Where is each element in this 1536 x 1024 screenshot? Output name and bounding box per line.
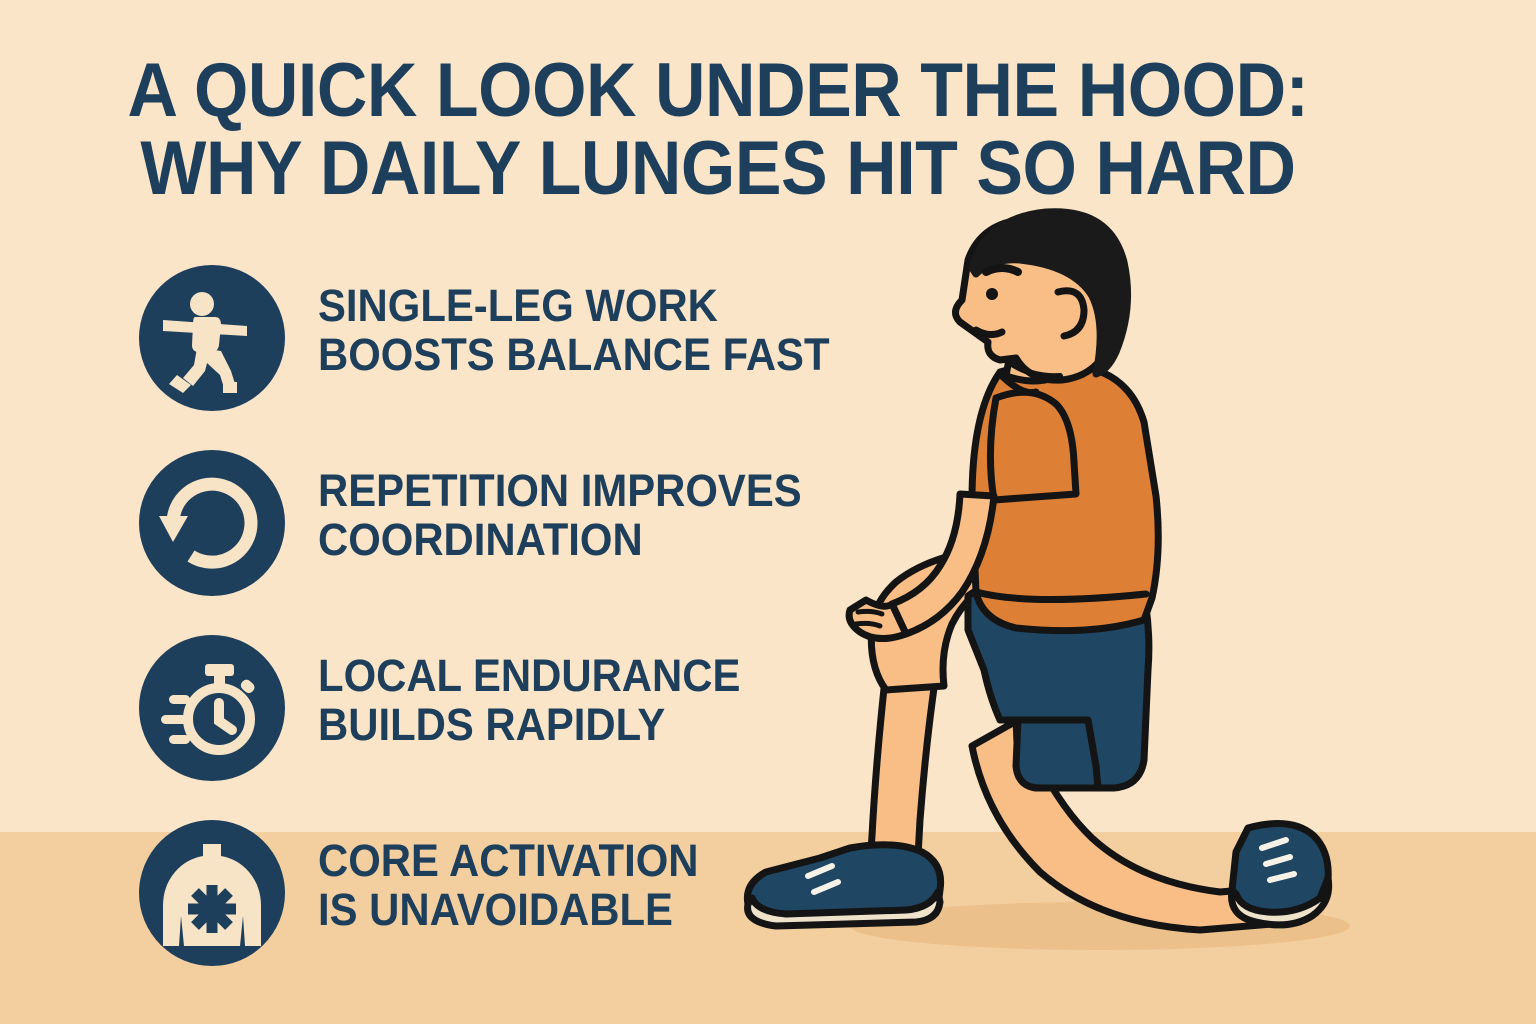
title-line-1: A QUICK LOOK UNDER THE HOOD: [57,52,1378,130]
illustration-man-lunge [700,200,1460,990]
title-line-2: WHY DAILY LUNGES HIT SO HARD [57,130,1378,208]
tshirt-sleeve [990,392,1076,500]
stopwatch-icon [139,635,285,781]
infographic-poster: A QUICK LOOK UNDER THE HOOD: WHY DAILY L… [0,0,1536,1024]
shorts-back-flap [1016,720,1098,788]
repeat-arrow-icon [139,450,285,596]
eye [986,288,998,300]
core-torso-icon [139,820,285,966]
balance-figure-icon [139,265,285,411]
page-title: A QUICK LOOK UNDER THE HOOD: WHY DAILY L… [0,52,1436,208]
eyebrow [986,268,1018,272]
